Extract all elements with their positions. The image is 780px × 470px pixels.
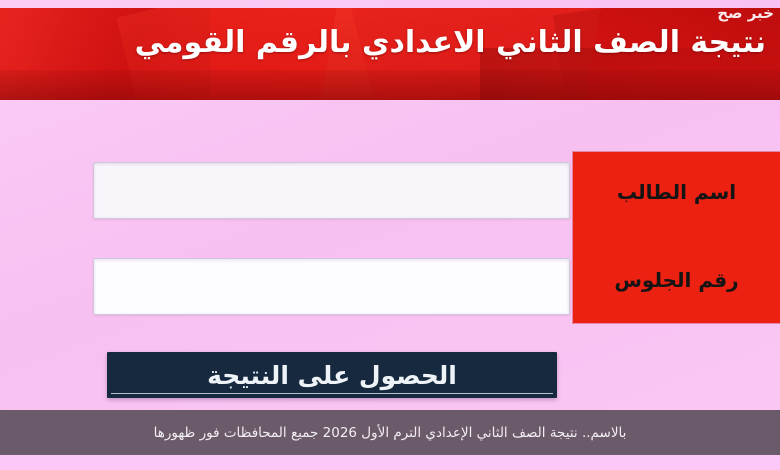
- page-title: نتيجة الصف الثاني الاعدادي بالرقم القومي: [8, 24, 766, 62]
- caption-text: بالاسم.. نتيجة الصف الثاني الإعدادي التر…: [154, 425, 627, 441]
- caption-bar: بالاسم.. نتيجة الصف الثاني الإعدادي التر…: [0, 410, 780, 455]
- bottom-strip: [0, 455, 780, 470]
- seat-number-input[interactable]: [93, 258, 570, 315]
- button-underline: [111, 393, 553, 394]
- get-result-button[interactable]: الحصول على النتيجة: [107, 352, 557, 398]
- site-watermark: خبر صح: [717, 8, 774, 22]
- label-student-name: اسم الطالب: [573, 180, 780, 204]
- labels-panel: اسم الطالب رقم الجلوس: [573, 152, 780, 323]
- student-name-input[interactable]: [93, 162, 570, 219]
- header-banner: خبر صح نتيجة الصف الثاني الاعدادي بالرقم…: [0, 8, 780, 100]
- result-form: اسم الطالب رقم الجلوس الحصول على النتيجة: [0, 100, 780, 410]
- get-result-button-label: الحصول على النتيجة: [207, 361, 457, 390]
- page-root: خبر صح نتيجة الصف الثاني الاعدادي بالرقم…: [0, 0, 780, 470]
- label-seat-number: رقم الجلوس: [573, 268, 780, 292]
- header-shade-bottom: [0, 70, 780, 100]
